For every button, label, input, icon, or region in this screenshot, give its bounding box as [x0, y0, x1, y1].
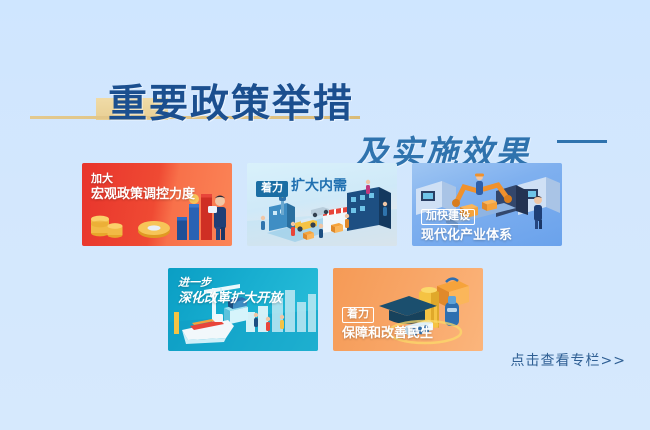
card-livelihood-label: 着力 保障和改善民生: [342, 304, 433, 340]
card-livelihood-eyebrow-wrap: 着力: [342, 304, 433, 323]
city-commerce-icon: [247, 163, 397, 246]
card-macro-title: 宏观政策调控力度: [91, 186, 195, 201]
card-macro-eyebrow: 加大: [91, 173, 195, 186]
page-title-line-1: 重要政策举措: [108, 73, 354, 129]
title-blue-rule: [557, 140, 607, 143]
card-livelihood-title: 保障和改善民生: [342, 325, 433, 340]
card-industry-title: 现代化产业体系: [421, 227, 512, 242]
card-macro-label: 加大 宏观政策调控力度: [91, 173, 195, 201]
policy-card-domestic-demand[interactable]: 着力扩大内需: [247, 163, 397, 246]
card-demand-label: 着力扩大内需: [256, 177, 347, 197]
policy-card-reform-opening[interactable]: 进一步 深化改革扩大开放: [168, 268, 318, 351]
card-livelihood-eyebrow: 着力: [342, 307, 374, 323]
card-illustration-demand: [247, 163, 397, 246]
card-industry-eyebrow-wrap: 加快建设: [421, 206, 512, 225]
card-reform-title: 深化改革扩大开放: [178, 290, 282, 305]
card-industry-eyebrow: 加快建设: [421, 209, 475, 225]
policy-card-livelihood[interactable]: 着力 保障和改善民生: [333, 268, 483, 351]
policy-card-industrial-system[interactable]: 加快建设 现代化产业体系: [412, 163, 562, 246]
policy-banner: 重要政策举措 及实施效果: [0, 0, 650, 430]
card-demand-title: 扩大内需: [291, 177, 347, 193]
card-industry-label: 加快建设 现代化产业体系: [421, 206, 512, 242]
card-demand-eyebrow: 着力: [256, 181, 288, 197]
banner-title-block: 重要政策举措 及实施效果: [0, 58, 650, 143]
view-column-link[interactable]: 点击查看专栏>>: [511, 350, 626, 370]
card-reform-eyebrow: 进一步: [178, 277, 282, 290]
card-reform-label: 进一步 深化改革扩大开放: [178, 277, 282, 305]
policy-card-macro-regulation[interactable]: 加大 宏观政策调控力度: [82, 163, 232, 246]
